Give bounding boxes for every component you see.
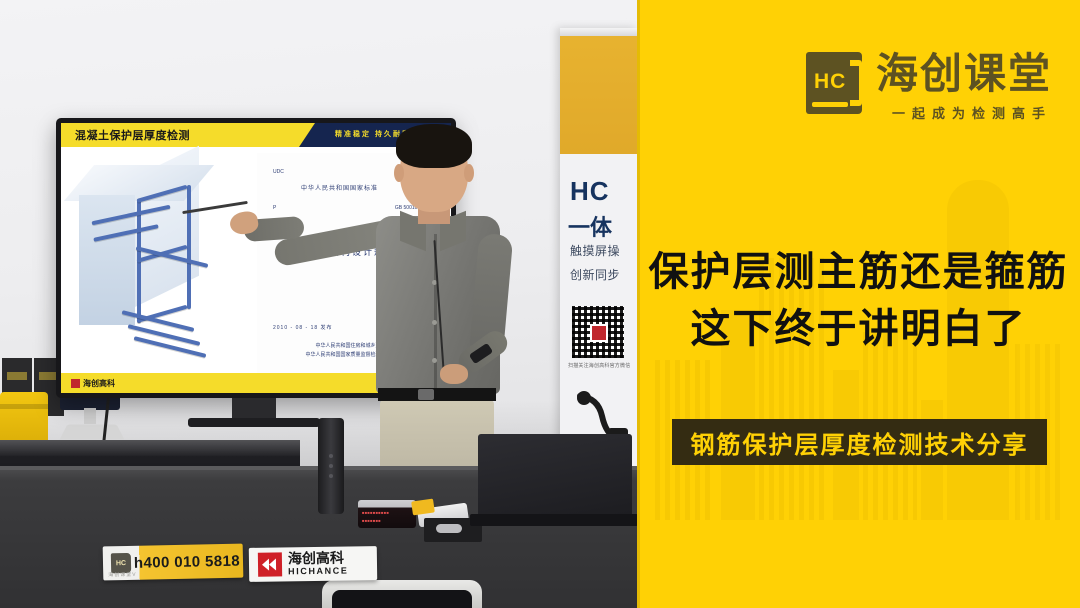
studio-photo-scene: HC 一体 触摸屏操 创新同步 扫描关注海创高科官方微信 [0,0,637,608]
presenter [352,130,552,470]
tv-stand-neck [232,398,276,420]
roller-banner-cap [560,28,637,36]
desk-label-brand-text: 海创高科 HICHANCE [288,551,349,577]
presenter-hair [396,124,472,168]
handheld-tablet-device: ■■■■■■■■■■■■■■■■■ [358,500,416,528]
hichance-logo-icon [258,552,282,576]
yellow-title-panel: HC 海创课堂 一起成为检测高手 保护层测主筋还是箍筋 这下终于讲明白了 钢筋保… [637,0,1080,608]
headline-line-2: 这下终于讲明白了 [637,301,1080,358]
subtitle-bar-text: 钢筋保护层厚度检测技术分享 [691,425,1029,460]
roller-banner-line2: 创新同步 [570,266,620,283]
presenter-ear-left [394,164,404,182]
shirt-button-3 [432,358,437,363]
screenshot-root: HC 一体 触摸屏操 创新同步 扫描关注海创高科官方微信 [0,0,1080,608]
presenter-belt [378,388,496,401]
shirt-button-2 [432,320,437,325]
brand-tagline: 一起成为检测高手 [876,103,1052,122]
brand-text-block: 海创课堂 一起成为检测高手 [876,52,1052,122]
stirrup-vertical-right [187,185,191,309]
cylinder-button-1 [329,454,333,458]
book-icon-base [812,102,848,107]
roller-banner-subtitle: 一体 [568,210,612,242]
qr-caption: 扫描关注海创高科官方微信 [568,362,630,369]
desk-label-phone-number: h400 010 5818 [131,552,243,571]
slide-footer-logo-text: 海创高科 [83,378,115,389]
subtitle-bar: 钢筋保护层厚度检测技术分享 [672,419,1047,465]
roller-banner-top-band [560,28,637,154]
book-icon-notch-inner [850,66,859,100]
roller-banner-line1: 触摸屏操 [570,242,620,259]
brand-name: 海创课堂 [876,52,1052,96]
laptop [478,434,632,520]
gb-udc-label: UDC [273,169,284,175]
belt-buckle [418,389,434,400]
presenter-right-hand [440,364,468,384]
equipment-box-label-left [7,372,27,380]
cylindrical-instrument [318,418,344,514]
book-icon: HC [806,52,862,114]
presenter-ear-right [464,164,474,182]
desk-label-phone-small-text: 海创课堂V [108,571,136,579]
brand-lockup: HC 海创课堂 一起成为检测高手 [806,52,1052,122]
secondary-monitor-stand [84,408,96,424]
tv-stand-base [188,418,320,427]
foreground-white-device [322,580,482,608]
desk-label-brand: 海创高科 HICHANCE [249,546,377,582]
cylinder-button-2 [329,464,333,468]
tablet-screen-text: ■■■■■■■■■■■■■■■■■ [362,509,389,524]
qr-code-icon [572,306,624,358]
laptop-base [470,514,637,526]
slide-title: 混凝土保护层厚度检测 [75,127,190,143]
main-bar-6 [134,336,207,358]
cylinder-button-3 [329,474,333,478]
gb-issue-date: 2010 - 08 - 18 发布 [273,324,333,331]
headline-block: 保护层测主筋还是箍筋 这下终于讲明白了 [637,244,1080,358]
hichance-mark-icon [71,379,80,388]
desk-label-brand-en: HICHANCE [288,566,348,577]
gb-p-label: P [273,205,276,211]
desk-label-phone: HC h400 010 5818 海创课堂V [103,544,244,581]
headline-line-1: 保护层测主筋还是箍筋 [637,244,1080,301]
roller-banner-title: HC [570,176,610,207]
book-icon-text: HC [814,70,846,94]
concrete-rebar-diagram [71,155,251,355]
slide-footer-logo: 海创高科 [71,378,115,389]
podium-glass-top [0,440,300,456]
secondary-monitor-base [60,425,125,440]
